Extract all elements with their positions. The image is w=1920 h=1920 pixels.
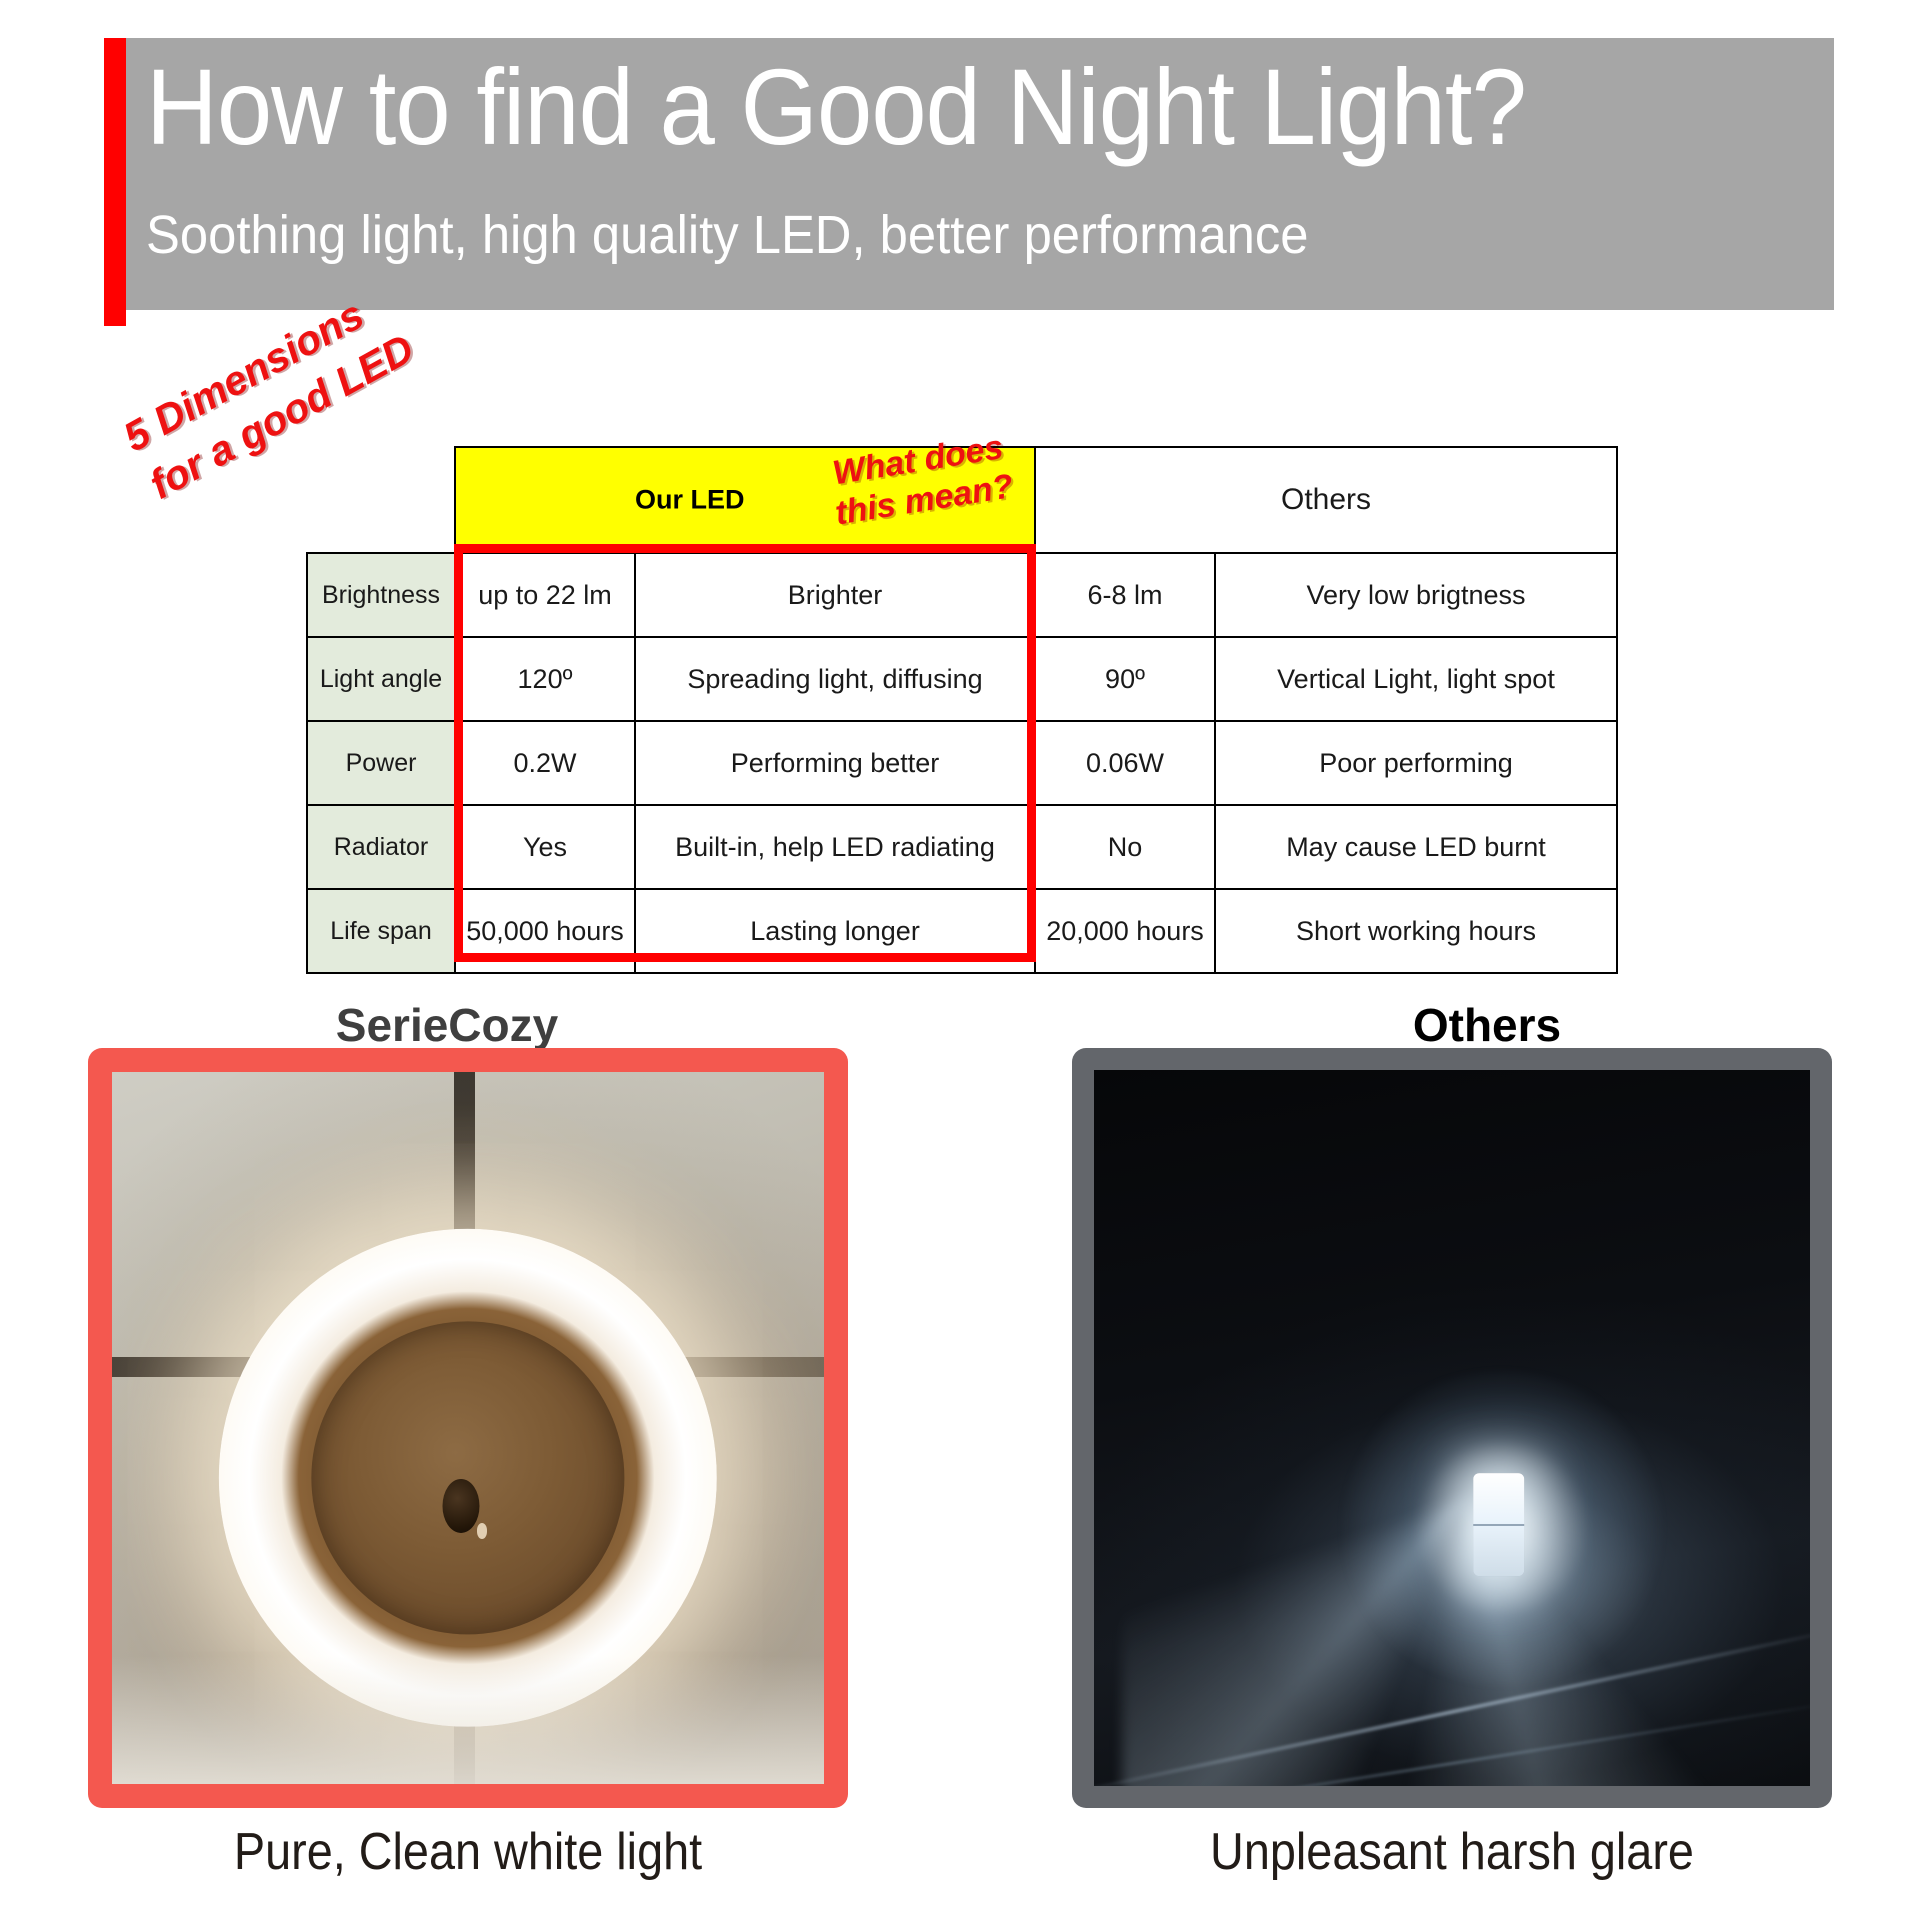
other-value: 90º	[1035, 637, 1215, 721]
sensor-highlight	[477, 1523, 488, 1539]
our-value: 0.2W	[455, 721, 635, 805]
our-meaning: Performing better	[635, 721, 1035, 805]
other-value: No	[1035, 805, 1215, 889]
seriecozy-caption: Pure, Clean white light	[126, 1822, 810, 1882]
our-value: Yes	[455, 805, 635, 889]
our-meaning: Lasting longer	[635, 889, 1035, 973]
sensor-dot-icon	[442, 1479, 479, 1533]
table-row: Life span 50,000 hours Lasting longer 20…	[307, 889, 1617, 973]
table-row: Radiator Yes Built-in, help LED radiatin…	[307, 805, 1617, 889]
row-label: Radiator	[307, 805, 455, 889]
row-label: Brightness	[307, 553, 455, 637]
row-label: Light angle	[307, 637, 455, 721]
table-corner-cell	[307, 447, 455, 553]
other-value: 0.06W	[1035, 721, 1215, 805]
row-label: Power	[307, 721, 455, 805]
our-value: up to 22 lm	[455, 553, 635, 637]
table-row: Light angle 120º Spreading light, diffus…	[307, 637, 1617, 721]
what-does-this-mean-label: What does this mean?	[801, 423, 1041, 538]
our-meaning: Spreading light, diffusing	[635, 637, 1035, 721]
row-label: Life span	[307, 889, 455, 973]
others-night-light-photo	[1094, 1070, 1810, 1786]
other-desc: Vertical Light, light spot	[1215, 637, 1617, 721]
infographic-page: How to find a Good Night Light? Soothing…	[0, 0, 1920, 1920]
other-value: 6-8 lm	[1035, 553, 1215, 637]
our-meaning: Brighter	[635, 553, 1035, 637]
table-row: Power 0.2W Performing better 0.06W Poor …	[307, 721, 1617, 805]
our-value: 120º	[455, 637, 635, 721]
competitor-led-seam	[1473, 1524, 1525, 1526]
header-accent-bar	[104, 38, 126, 326]
page-title: How to find a Good Night Light?	[146, 48, 1692, 166]
our-led-label: Our LED	[635, 485, 745, 516]
our-meaning: Built-in, help LED radiating	[635, 805, 1035, 889]
other-desc: Very low brigtness	[1215, 553, 1617, 637]
others-caption: Unpleasant harsh glare	[1110, 1822, 1794, 1882]
five-dimensions-line1: 5 Dimensions	[116, 291, 371, 460]
others-panel-title: Others	[1362, 998, 1612, 1052]
our-led-header-cell: Our LED What does this mean?	[455, 447, 1035, 553]
seriecozy-panel-title: SerieCozy	[322, 998, 572, 1052]
other-desc: Poor performing	[1215, 721, 1617, 805]
table-header-row: Our LED What does this mean? Others	[307, 447, 1617, 553]
table-row: Brightness up to 22 lm Brighter 6-8 lm V…	[307, 553, 1617, 637]
seriecozy-night-light-photo	[112, 1072, 824, 1784]
other-desc: Short working hours	[1215, 889, 1617, 973]
other-value: 20,000 hours	[1035, 889, 1215, 973]
other-desc: May cause LED burnt	[1215, 805, 1617, 889]
seriecozy-photo-panel	[88, 1048, 848, 1808]
others-photo-panel	[1072, 1048, 1832, 1808]
page-subtitle: Soothing light, high quality LED, better…	[146, 202, 1725, 268]
night-light-inner-disc	[311, 1321, 624, 1634]
our-value: 50,000 hours	[455, 889, 635, 973]
comparison-table: Our LED What does this mean? Others Brig…	[306, 446, 1618, 974]
others-header-cell: Others	[1035, 447, 1617, 553]
wall-gradient	[112, 1656, 824, 1784]
